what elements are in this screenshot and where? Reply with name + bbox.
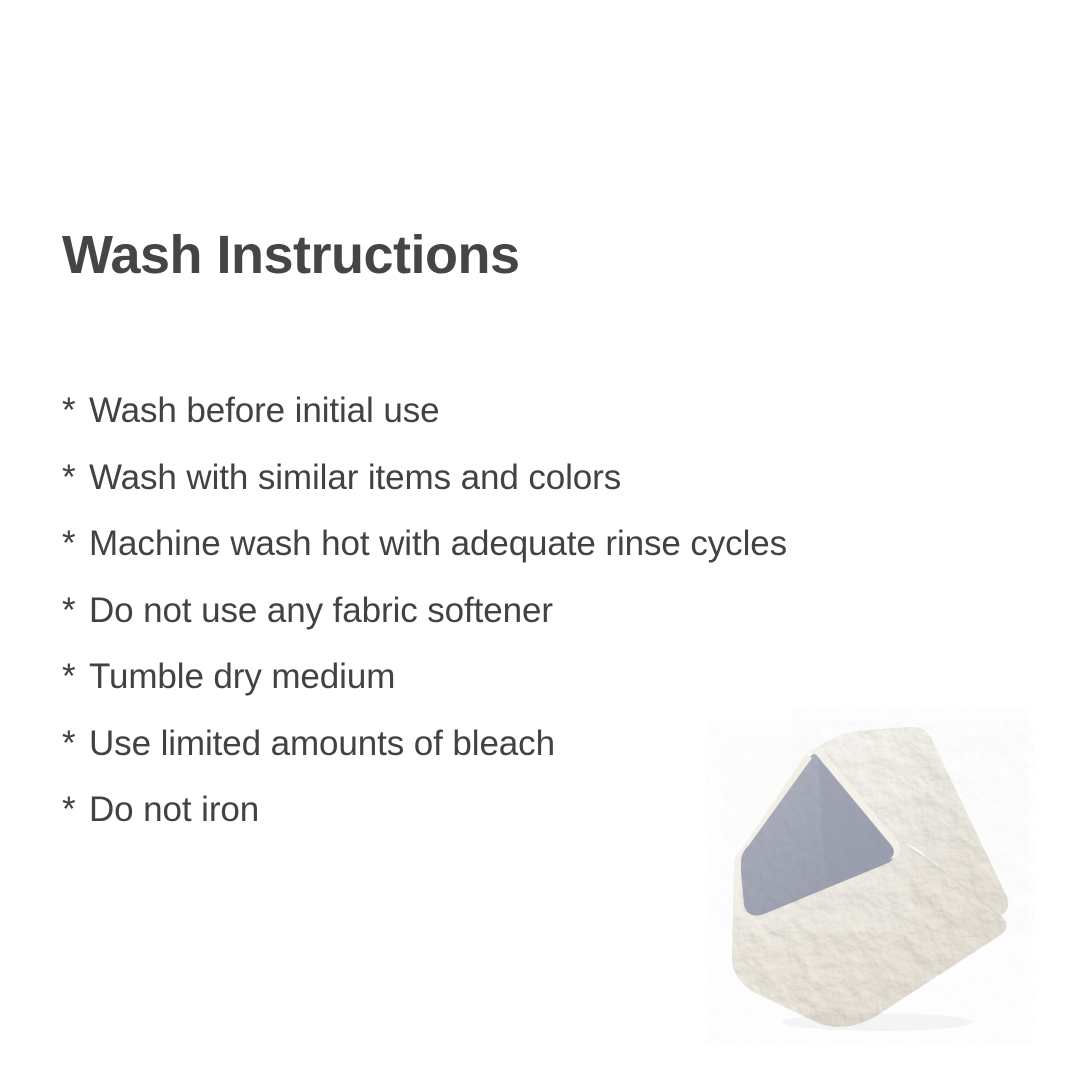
asterisk-bullet-icon: * (62, 777, 89, 844)
product-image-quilted-underpad (706, 700, 1036, 1045)
list-item: *Machine wash hot with adequate rinse cy… (62, 511, 1022, 578)
quilted-underpad-illustration (706, 700, 1036, 1045)
list-item-label: Use limited amounts of bleach (89, 724, 555, 763)
list-item: *Wash with similar items and colors (62, 445, 1022, 512)
wash-instructions-page: Wash Instructions *Wash before initial u… (0, 0, 1080, 1080)
asterisk-bullet-icon: * (62, 378, 89, 445)
list-item-label: Tumble dry medium (89, 657, 395, 696)
asterisk-bullet-icon: * (62, 644, 89, 711)
list-item-label: Do not use any fabric softener (89, 591, 553, 630)
list-item-label: Wash before initial use (89, 391, 439, 430)
product-shadow (782, 1013, 974, 1031)
asterisk-bullet-icon: * (62, 711, 89, 778)
asterisk-bullet-icon: * (62, 511, 89, 578)
list-item-label: Machine wash hot with adequate rinse cyc… (89, 524, 787, 563)
list-item: *Do not use any fabric softener (62, 578, 1022, 645)
asterisk-bullet-icon: * (62, 578, 89, 645)
list-item-label: Wash with similar items and colors (89, 458, 621, 497)
list-item: *Wash before initial use (62, 378, 1022, 445)
asterisk-bullet-icon: * (62, 445, 89, 512)
page-title: Wash Instructions (62, 222, 520, 288)
list-item-label: Do not iron (89, 790, 259, 829)
